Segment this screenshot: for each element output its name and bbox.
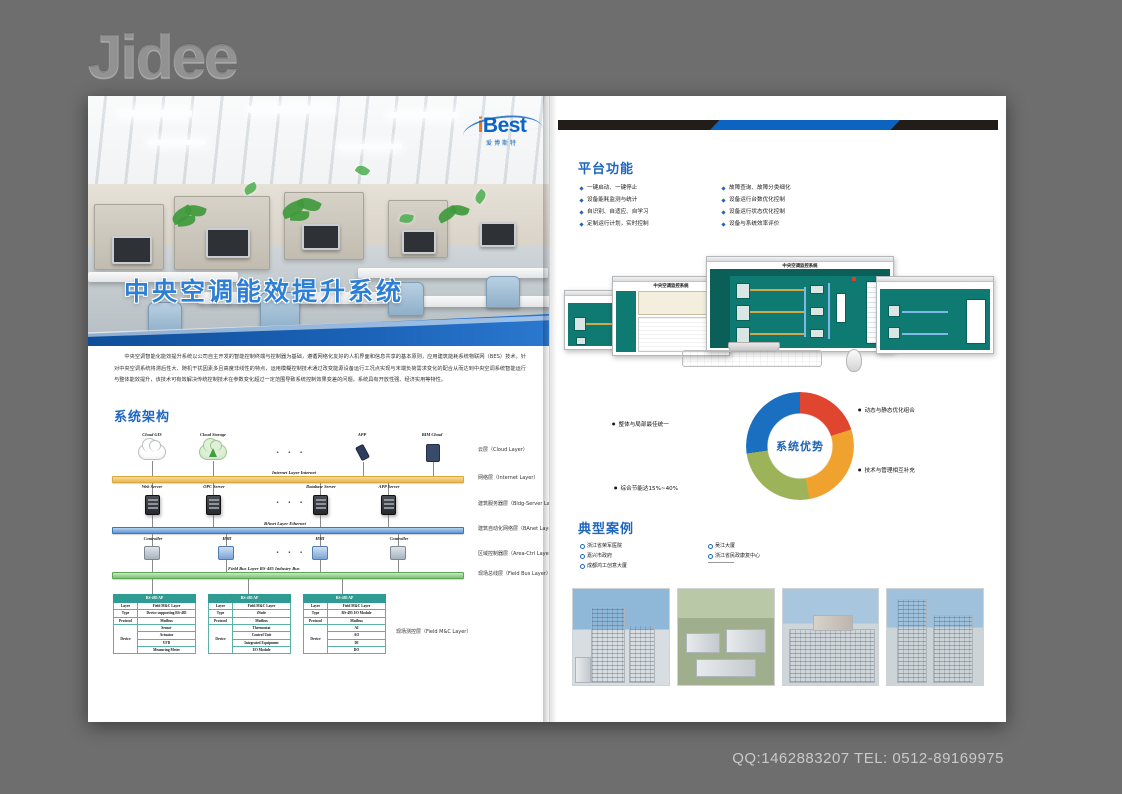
software-mockup: 中央空调监控系统 中央空调监控系统: [564, 246, 994, 376]
table-header: RS-485 AP: [304, 595, 386, 603]
pump-unit: [810, 329, 824, 338]
connector-line: [213, 515, 214, 527]
scada-sidebar: [616, 291, 636, 352]
connector-line: [342, 579, 343, 594]
feature-item: 自识别、自适应、自学习: [580, 208, 706, 216]
platform-feature-list: 一键启动、一键停止 故障查询、故障分类细化 设备能耗监测与统计 设备运行台数优化…: [580, 184, 980, 228]
node-label-controller-1: Controller: [130, 536, 176, 541]
scada-pipe: [804, 287, 806, 337]
system-advantages-chart: 系统优势 整体与局部最佳统一 综合节能达15%~40% 动态与静态优化组合 技术…: [550, 388, 1006, 504]
case-item: 吴江大厦: [708, 542, 880, 549]
brochure-spread: iBest 爱博斯特 中央空调能效提升系统 中央空调智能化能效提升系统以公司自主…: [88, 96, 1006, 722]
banet-bus-label: BAnet Layer Ethernet: [264, 521, 306, 526]
chiller-unit: [736, 283, 750, 299]
device-table-2: RS-485 AP LayerField M&C Layer TypeiNode…: [208, 594, 291, 654]
feature-item: 设备运行台数优化控制: [722, 196, 980, 204]
section-title-architecture: 系统架构: [114, 406, 170, 425]
table-value: RS-485 I/O Module: [328, 610, 386, 617]
hmi-icon: [312, 546, 328, 560]
building-shape: [686, 633, 720, 653]
advantage-label-top-right: 动态与静态优化组合: [858, 406, 915, 414]
fieldbus-bus: [112, 572, 464, 579]
pump-unit: [810, 307, 824, 316]
table-header: RS-485 AP: [114, 595, 196, 603]
keyboard: [682, 350, 822, 367]
connector-line: [213, 461, 214, 476]
building-shape: [575, 657, 591, 683]
desktop-monitor: [112, 236, 152, 264]
chiller-unit: [736, 327, 750, 343]
layer-label-field-mc: 现场测控层（Field M&C Layer）: [396, 628, 471, 635]
ceiling-light: [388, 112, 458, 118]
scada-pipe: [902, 333, 948, 335]
table-value: DI: [328, 639, 386, 646]
ibest-logo: iBest 爱博斯特: [460, 114, 544, 148]
advantage-label-bottom-right: 技术与管理相互补充: [858, 466, 915, 474]
screen-title: 中央空调监控系统: [782, 263, 817, 269]
footer-contact: QQ:1462883207 TEL: 0512-89169975: [732, 750, 1004, 767]
feature-item: 设备运行状态优化控制: [722, 208, 980, 216]
connector-line: [320, 560, 321, 572]
table-value: Modbus: [328, 617, 386, 624]
feature-item: 设备能耗监测与统计: [580, 196, 706, 204]
case-item: 成都鸿工创意大厦: [580, 562, 698, 569]
scada-unit: [576, 337, 586, 345]
layer-label-field-bus: 现场总线层（Field Bus Layer）: [478, 570, 550, 577]
building-sign: [813, 615, 853, 631]
building-shape: [933, 615, 973, 683]
feature-item: 一键启动、一键停止: [580, 184, 706, 192]
building-shape: [591, 607, 625, 683]
office-desk: [418, 296, 550, 307]
page-left: iBest 爱博斯特 中央空调能效提升系统 中央空调智能化能效提升系统以公司自主…: [88, 96, 550, 722]
logo-cn-subtext: 爱博斯特: [486, 138, 518, 147]
ellipsis-controllers: · · ·: [276, 548, 306, 557]
node-label-app-server: APP Server: [363, 484, 415, 489]
ceiling-light: [118, 110, 192, 117]
controller-icon: [390, 546, 406, 560]
feature-item: 定制运行计划，实时控制: [580, 220, 706, 228]
node-label-cloud-gis: Cloud GIS: [130, 432, 174, 437]
desktop-monitor: [402, 230, 436, 254]
layer-label-area-ctrl: 区域控制器层（Area-Ctrl Layer）: [478, 550, 550, 557]
ellipsis-servers: · · ·: [276, 498, 306, 507]
table-value: VFD: [138, 639, 196, 646]
desktop-monitor: [206, 228, 250, 258]
screen-title: 中央空调监控系统: [653, 283, 688, 289]
table-value: Control Unit: [233, 632, 291, 639]
node-label-app: APP: [346, 432, 378, 437]
hero-title: 中央空调能效提升系统: [124, 272, 404, 308]
node-label-web-server: Web Server: [128, 484, 176, 489]
case-item: 嘉兴市政府: [580, 552, 698, 559]
ceiling-light: [338, 144, 402, 149]
node-label-hmi-1: HMI: [212, 536, 242, 541]
controller-icon: [144, 546, 160, 560]
table-value: Sensor: [138, 624, 196, 631]
scada-pipe: [828, 283, 830, 339]
scada-toolbar: [710, 269, 890, 276]
building-shape: [789, 629, 875, 683]
table-value: Device supporting RS-485: [138, 610, 196, 617]
scada-pipe: [750, 311, 804, 313]
node-label-bim-cloud: BIM Cloud: [408, 432, 456, 437]
fieldbus-bus-label: Field Bus Layer RS-485 Industry Bus: [228, 566, 300, 571]
node-label-database-server: Database Server: [290, 484, 352, 489]
connector-line: [152, 579, 153, 594]
scada-canvas: [710, 269, 890, 348]
status-panel: [966, 299, 986, 344]
device-table-3: RS-485 AP LayerField M&C Layer TypeRS-48…: [303, 594, 386, 654]
table-key: Protocol: [114, 617, 138, 624]
layer-label-banet: 建筑自动化网络层（BAnet Layer）: [478, 525, 550, 532]
window-titlebar: [707, 257, 893, 262]
scada-unit: [888, 305, 900, 317]
case-photo-building-1: [572, 588, 670, 686]
table-value: I/O Module: [233, 647, 291, 654]
scada-pipe: [750, 333, 804, 335]
scada-canvas: [880, 289, 990, 350]
header-bar-accent: [710, 120, 900, 130]
hmi-icon: [218, 546, 234, 560]
table-value: Field M&C Layer: [138, 602, 196, 609]
layer-label-bldg-server: 建筑服务器层（Bldg-Server Layer）: [478, 500, 550, 507]
connector-line: [248, 579, 249, 594]
architecture-diagram: Cloud GIS Cloud Storage · · · APP BIM Cl…: [108, 432, 533, 690]
connector-line: [152, 560, 153, 572]
table-key: Device: [304, 624, 328, 654]
table-value: AO: [328, 632, 386, 639]
bim-cloud-icon: [426, 444, 440, 462]
hero-photo: iBest 爱博斯特 中央空调能效提升系统: [88, 96, 550, 346]
watermark-logo: Jidee: [88, 22, 237, 93]
desktop-monitor: [480, 222, 516, 247]
scada-nav: [710, 276, 730, 348]
layer-label-cloud: 云层（Cloud Layer）: [478, 446, 528, 453]
table-key: Protocol: [304, 617, 328, 624]
table-key: Protocol: [209, 617, 233, 624]
cooling-tower: [836, 293, 846, 323]
building-shape: [696, 659, 756, 677]
app-server-icon: [381, 495, 396, 515]
intro-paragraph: 中央空调智能化能效提升系统以公司自主开发的智能控制终端与控制器为基础，遵循网络化…: [114, 352, 526, 387]
chiller-unit: [736, 305, 750, 321]
database-server-icon: [313, 495, 328, 515]
table-value: Measuring Meter: [138, 647, 196, 654]
table-value: Thermostat: [233, 624, 291, 631]
alarm-indicator: [852, 277, 856, 281]
case-item: 浙江省荣军医院: [580, 542, 698, 549]
scada-pipe: [750, 289, 804, 291]
table-header: RS-485 AP: [209, 595, 291, 603]
table-key: Layer: [209, 602, 233, 609]
connector-line: [363, 462, 364, 476]
case-photo-hospital-3: [782, 588, 880, 686]
web-server-icon: [145, 495, 160, 515]
advantage-label-top-left: 整体与局部最佳统一: [612, 420, 669, 428]
table-key: Device: [209, 624, 233, 654]
scada-pipe: [902, 311, 948, 313]
window-titlebar: [877, 277, 993, 282]
feature-item: 故障查询、故障分类细化: [722, 184, 980, 192]
connector-line: [320, 515, 321, 527]
case-list: 浙江省荣军医院 吴江大厦 嘉兴市政府 浙江省民政康复中心 成都鸿工创意大厦: [580, 542, 880, 569]
internet-bus-label: Internet Layer Internet: [272, 470, 316, 475]
section-title-platform: 平台功能: [578, 158, 634, 177]
node-label-controller-2: Controller: [376, 536, 422, 541]
office-chair: [486, 276, 520, 308]
connector-line: [433, 462, 434, 476]
connector-line: [388, 515, 389, 527]
scada-screen-right: [876, 276, 994, 354]
device-table-1: RS-485 AP LayerField M&C Layer TypeDevic…: [113, 594, 196, 654]
table-value: AI: [328, 624, 386, 631]
section-title-cases: 典型案例: [578, 518, 634, 537]
table-key: Type: [114, 610, 138, 617]
table-key: Layer: [114, 602, 138, 609]
building-shape: [726, 629, 766, 653]
case-photo-strip: [572, 588, 984, 686]
ceiling-light: [248, 106, 334, 113]
building-shape: [897, 599, 927, 683]
layer-label-internet: 网络层（Internet Layer）: [478, 474, 538, 481]
internet-bus: [112, 476, 464, 483]
connector-line: [152, 515, 153, 527]
page-right: 平台功能 一键启动、一键停止 故障查询、故障分类细化 设备能耗监测与统计 设备运…: [550, 96, 1006, 722]
table-value: iNode: [233, 610, 291, 617]
desktop-monitor: [302, 224, 340, 250]
connector-line: [152, 461, 153, 476]
opc-server-icon: [206, 495, 221, 515]
upload-arrow-icon: [209, 448, 217, 457]
table-key: Type: [304, 610, 328, 617]
node-label-cloud-storage: Cloud Storage: [184, 432, 242, 437]
table-value: Field M&C Layer: [233, 602, 291, 609]
table-value: DO: [328, 647, 386, 654]
table-value: Modbus: [233, 617, 291, 624]
ellipsis-cloud: · · ·: [276, 448, 306, 457]
table-value: Field M&C Layer: [328, 602, 386, 609]
scada-screen-main: 中央空调监控系统: [706, 256, 894, 352]
node-label-opc-server: OPC Server: [190, 484, 238, 489]
table-value: Actuator: [138, 632, 196, 639]
scada-unit: [574, 317, 586, 331]
feature-item: 设备与系统效率评价: [722, 220, 980, 228]
table-value: Integrated Equipment: [233, 639, 291, 646]
cloud-gis-icon: [138, 444, 166, 460]
table-key: Layer: [304, 602, 328, 609]
table-key: Device: [114, 624, 138, 654]
building-shape: [629, 625, 655, 683]
case-item: 浙江省民政康复中心: [708, 552, 880, 559]
node-label-hmi-2: HMI: [305, 536, 335, 541]
connector-line: [226, 560, 227, 572]
case-photo-tower-4: [886, 588, 984, 686]
pump-unit: [810, 285, 824, 294]
app-phone-icon: [355, 444, 370, 461]
table-value: Modbus: [138, 617, 196, 624]
mouse: [846, 349, 862, 372]
advantage-label-bottom-left: 综合节能达15%~40%: [614, 484, 678, 492]
connector-line: [398, 560, 399, 572]
scada-unit: [888, 327, 900, 339]
case-photo-campus-2: [677, 588, 775, 686]
case-item-placeholder: [708, 562, 734, 563]
banet-bus: [112, 527, 464, 534]
ceiling-light: [148, 140, 206, 145]
donut-center-label: 系统优势: [746, 392, 854, 500]
table-key: Type: [209, 610, 233, 617]
